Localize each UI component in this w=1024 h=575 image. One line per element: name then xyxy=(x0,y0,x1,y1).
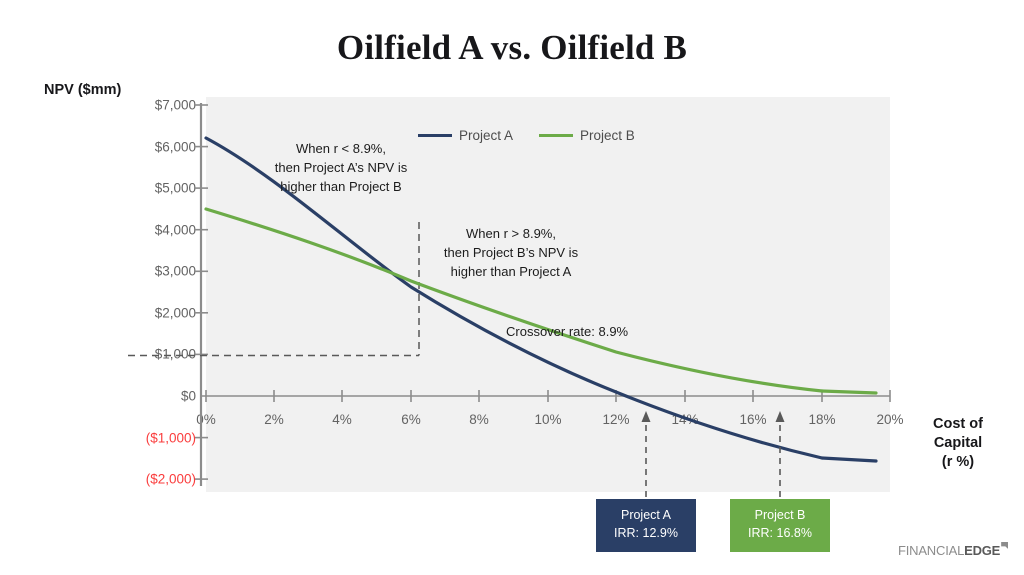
callout-title: Project A xyxy=(596,507,696,525)
annotation-project-a-higher: When r < 8.9%, then Project A’s NPV is h… xyxy=(238,140,444,197)
x-tick-label: 4% xyxy=(314,412,370,427)
annotation-line: higher than Project A xyxy=(408,263,614,282)
callout-title: Project B xyxy=(730,507,830,525)
y-tick-label: $3,000 xyxy=(110,264,196,279)
x-tick-label: 8% xyxy=(451,412,507,427)
x-tick-label: 10% xyxy=(520,412,576,427)
x-tick-label: 14% xyxy=(657,412,713,427)
financial-edge-logo: FINANCIAL EDGE xyxy=(898,543,1008,558)
x-tick-label: 0% xyxy=(178,412,234,427)
y-tick-label: $0 xyxy=(110,389,196,404)
line-swatch-navy-icon xyxy=(418,134,452,137)
legend-item-project-b[interactable]: Project B xyxy=(539,128,635,143)
x-tick-label: 2% xyxy=(246,412,302,427)
logo-text-bold: EDGE xyxy=(964,543,1000,558)
callout-value: IRR: 16.8% xyxy=(730,525,830,543)
logo-text-light: FINANCIAL xyxy=(898,543,964,558)
x-axis-title-line: (r %) xyxy=(902,453,1014,472)
annotation-line: then Project B’s NPV is xyxy=(408,244,614,263)
page-title: Oilfield A vs. Oilfield B xyxy=(0,28,1024,68)
annotation-line: When r > 8.9%, xyxy=(408,225,614,244)
x-tick-label: 12% xyxy=(588,412,644,427)
y-tick-label: $5,000 xyxy=(110,181,196,196)
y-tick-label: $6,000 xyxy=(110,139,196,154)
y-tick-label: $7,000 xyxy=(110,98,196,113)
y-tick-label: $1,000 xyxy=(110,347,196,362)
callout-project-b-irr[interactable]: Project B IRR: 16.8% xyxy=(730,499,830,552)
x-tick-label: 16% xyxy=(725,412,781,427)
annotation-line: then Project A’s NPV is xyxy=(238,159,444,178)
flag-icon xyxy=(1001,542,1008,549)
x-axis-title-line: Cost of xyxy=(902,415,1014,434)
crossover-rate-label: Crossover rate: 8.9% xyxy=(506,324,628,339)
x-axis-title-line: Capital xyxy=(902,434,1014,453)
line-swatch-green-icon xyxy=(539,134,573,137)
y-axis-title: NPV ($mm) xyxy=(44,82,121,98)
annotation-line: When r < 8.9%, xyxy=(238,140,444,159)
annotation-line: higher than Project B xyxy=(238,178,444,197)
chart-legend: Project A Project B xyxy=(418,128,635,143)
x-tick-label: 18% xyxy=(794,412,850,427)
x-axis-title: Cost of Capital (r %) xyxy=(902,415,1014,472)
legend-label: Project A xyxy=(459,128,513,143)
y-tick-label: ($2,000) xyxy=(110,472,196,487)
annotation-project-b-higher: When r > 8.9%, then Project B’s NPV is h… xyxy=(408,225,614,282)
y-tick-label: $2,000 xyxy=(110,305,196,320)
legend-label: Project B xyxy=(580,128,635,143)
callout-project-a-irr[interactable]: Project A IRR: 12.9% xyxy=(596,499,696,552)
y-tick-label: ($1,000) xyxy=(110,430,196,445)
chart-slide: Oilfield A vs. Oilfield B NPV ($mm) $7,0… xyxy=(0,0,1024,575)
x-tick-label: 6% xyxy=(383,412,439,427)
y-tick-label: $4,000 xyxy=(110,222,196,237)
callout-value: IRR: 12.9% xyxy=(596,525,696,543)
